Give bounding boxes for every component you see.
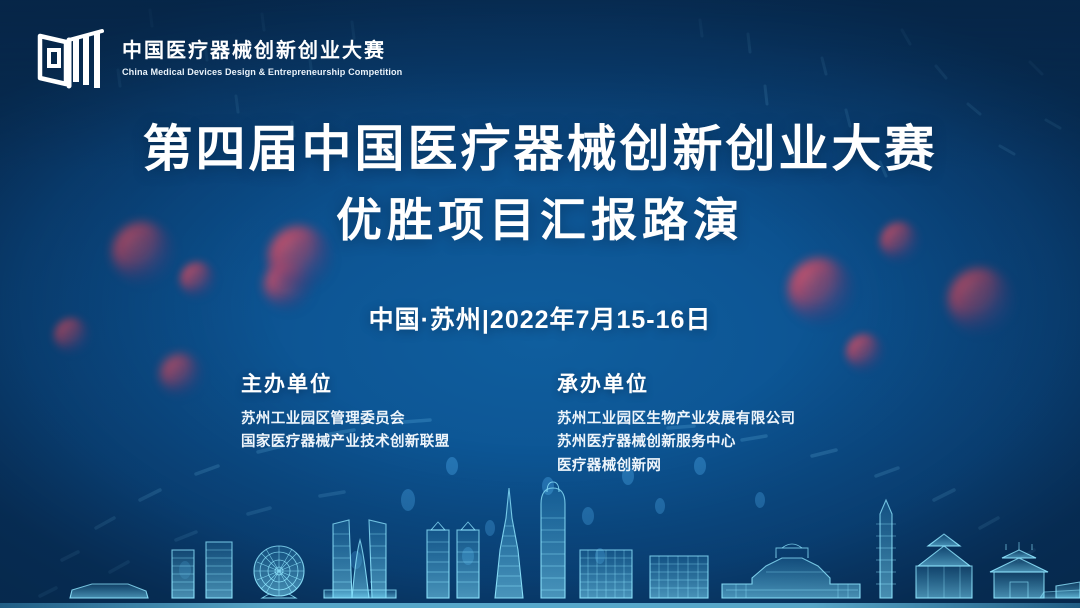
host-heading: 主办单位 — [241, 368, 541, 398]
event-poster: 中国医疗器械创新创业大赛 China Medical Devices Desig… — [0, 0, 1080, 608]
logo-title-en: China Medical Devices Design & Entrepren… — [122, 67, 402, 78]
organizer-coorganizer: 承办单位 苏州工业园区生物产业发展有限公司 苏州医疗器械创新服务中心 医疗器械创… — [541, 368, 857, 478]
poster-title: 第四届中国医疗器械创新创业大赛 优胜项目汇报路演 — [0, 120, 1080, 248]
organizers-section: 主办单位 苏州工业园区管理委员会 国家医疗器械产业技术创新联盟 承办单位 苏州工… — [0, 368, 1080, 478]
title-line-2: 优胜项目汇报路演 — [0, 193, 1080, 248]
host-entry: 苏州工业园区管理委员会 — [241, 408, 541, 431]
coorganizer-entry: 苏州医疗器械创新服务中心 — [557, 431, 857, 454]
coorganizer-entry: 苏州工业园区生物产业发展有限公司 — [557, 408, 857, 431]
title-line-1: 第四届中国医疗器械创新创业大赛 — [0, 120, 1080, 179]
skyline-ground-line — [0, 603, 1080, 608]
logo-title-cn: 中国医疗器械创新创业大赛 — [122, 40, 414, 63]
host-entry: 国家医疗器械产业技术创新联盟 — [241, 431, 541, 454]
coorganizer-heading: 承办单位 — [557, 368, 857, 398]
sphere-10 — [846, 334, 884, 372]
coorganizer-entry: 医疗器械创新网 — [557, 455, 857, 478]
city-skyline — [0, 458, 1080, 608]
brand-logo: 中国医疗器械创新创业大赛 China Medical Devices Desig… — [36, 28, 414, 90]
open-book-door-logo-icon — [36, 28, 108, 90]
event-location-date: 中国·苏州|2022年7月15-16日 — [0, 300, 1080, 336]
sphere-2 — [180, 262, 216, 298]
organizer-host: 主办单位 苏州工业园区管理委员会 国家医疗器械产业技术创新联盟 — [223, 368, 541, 478]
